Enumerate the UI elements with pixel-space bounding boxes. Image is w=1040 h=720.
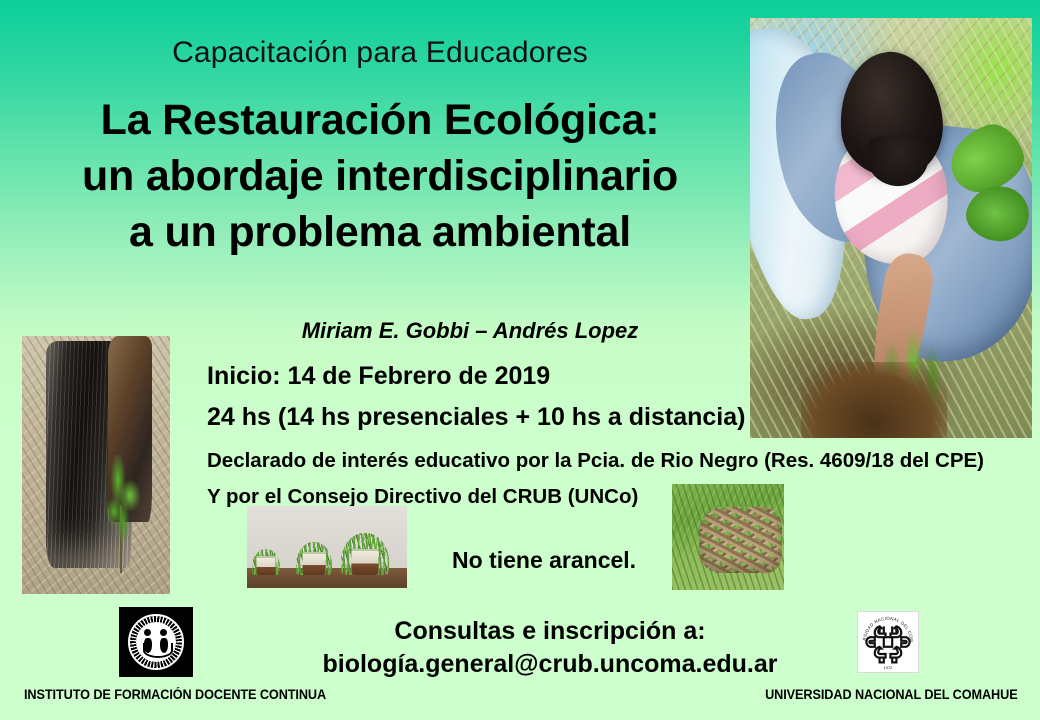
no-fee-note: No tiene arancel. <box>452 547 636 574</box>
instituto-de-formacion-docente-continua-logo <box>119 607 193 677</box>
authors-line: Miriam E. Gobbi – Andrés Lopez <box>200 318 740 344</box>
unco-emblem-icon: UNIVERSIDAD NACIONAL DEL COMAHUE 1972 <box>858 612 918 672</box>
contact-block: Consultas e inscripción a: biología.gene… <box>240 615 860 680</box>
pile-of-branches-in-vegetation-photo <box>672 484 784 590</box>
logo-figure-arc <box>143 643 173 658</box>
seedling-leaves <box>99 455 149 569</box>
plant-pot <box>303 552 326 575</box>
logo-figure-head-right <box>160 629 167 636</box>
plant-pot <box>257 556 276 575</box>
child-planting-seedling-photo <box>750 18 1032 438</box>
declaration-line: Declarado de interés educativo por la Pc… <box>207 449 984 473</box>
logo-figure-head-left <box>144 629 151 636</box>
poster-canvas: Capacitación para Educadores La Restaura… <box>0 0 1040 720</box>
three-potted-grass-plants-photo <box>247 506 407 588</box>
footer-institution-right: UNIVERSIDAD NACIONAL DEL COMAHUE <box>766 687 1018 702</box>
title-line-1: La Restauración Ecológica: <box>0 93 760 149</box>
poster-title: La Restauración Ecológica: un abordaje i… <box>0 93 760 261</box>
contact-label: Consultas e inscripción a: <box>240 615 860 648</box>
soil-patch <box>801 362 948 438</box>
title-line-2: un abordaje interdisciplinario <box>0 149 760 205</box>
duration-line: 24 hs (14 hs presenciales + 10 hs a dist… <box>207 403 745 432</box>
footer-institution-left: INSTITUTO DE FORMACIÓN DOCENTE CONTINUA <box>24 687 326 702</box>
contact-email[interactable]: biología.general@crub.uncoma.edu.ar <box>240 648 860 681</box>
start-date-line: Inicio: 14 de Febrero de 2019 <box>207 362 550 391</box>
unco-year: 1972 <box>884 665 893 670</box>
burned-tree-stump-with-seedling-photo <box>22 336 170 594</box>
title-line-3: a un problema ambiental <box>0 205 760 261</box>
universidad-nacional-del-comahue-logo: UNIVERSIDAD NACIONAL DEL COMAHUE 1972 <box>857 611 919 673</box>
branch-pile-shape <box>699 507 782 573</box>
plant-pot <box>352 549 379 575</box>
